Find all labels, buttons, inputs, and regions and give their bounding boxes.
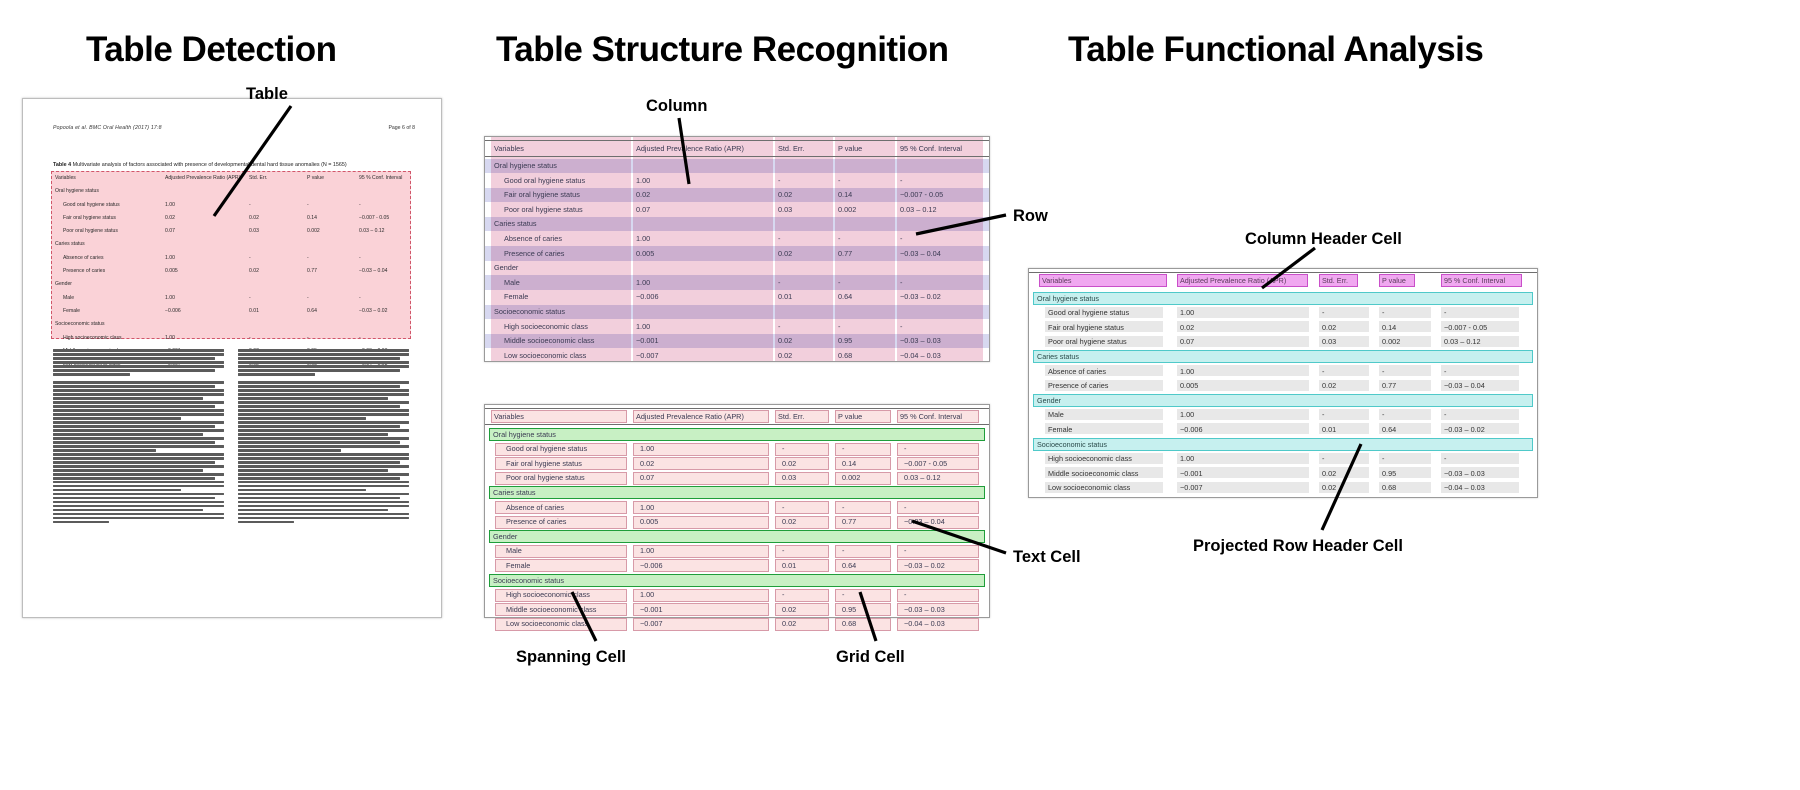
table-cell-text: 0.03	[782, 473, 796, 482]
text-cell	[1177, 409, 1309, 420]
table-cell-text: −0.001	[636, 336, 659, 345]
document-body-text-line	[53, 441, 215, 444]
table-cell-text: -	[838, 322, 840, 331]
document-body-text-line	[238, 365, 409, 368]
table-cell-text: -	[842, 444, 844, 453]
table-cell-text: −0.03 – 0.04	[900, 249, 941, 258]
document-body-text-line	[238, 517, 409, 520]
table-structure-rows-columns-view: VariablesAdjusted Prevalence Ratio (APR)…	[484, 136, 990, 362]
document-body-text-line	[238, 473, 409, 476]
text-cell	[1177, 365, 1309, 376]
document-body-text-line	[238, 469, 388, 472]
document-table-cell: 0.07	[165, 228, 175, 234]
text-cell-text: Presence of caries	[1048, 381, 1108, 390]
document-body-text-line	[238, 349, 409, 352]
document-running-head: Popoola et al. BMC Oral Health (2017) 17…	[53, 125, 162, 131]
annotation-label-row: Row	[1013, 207, 1048, 226]
document-table-cell: -	[249, 255, 251, 261]
document-table-cell: 0.02	[249, 268, 259, 274]
table-cell-text: −0.03 – 0.03	[900, 336, 941, 345]
document-table-cell: −0.006	[165, 308, 181, 314]
text-cell-text: Poor oral hygiene status	[1048, 337, 1127, 346]
text-cell-text: -	[1382, 308, 1384, 317]
document-body-text-line	[53, 461, 215, 464]
document-body-text-line	[238, 521, 294, 524]
text-cell	[1441, 365, 1519, 376]
text-cell	[1319, 409, 1369, 420]
document-table-cell: 0.005	[165, 268, 178, 274]
table-functional-analysis-view: VariablesAdjusted Prevalence Ratio (APR)…	[1028, 268, 1538, 498]
document-body-text-line	[238, 353, 409, 356]
table-spanning-cell	[489, 486, 985, 499]
document-page-number: Page 6 of 8	[388, 125, 415, 131]
table-cell-text: −0.007	[636, 351, 659, 360]
document-body-text-line	[238, 493, 409, 496]
table-cell-text: -	[900, 176, 902, 185]
document-body-text-line	[238, 505, 409, 508]
table-cell-text: 0.68	[842, 619, 856, 628]
document-body-text-line	[53, 409, 224, 412]
document-body-text-line	[238, 449, 341, 452]
table-cell-text: Socioeconomic status	[494, 307, 565, 316]
document-body-text-line	[238, 401, 409, 404]
document-table-cell: 0.02	[165, 215, 175, 221]
document-table-cell: 0.14	[307, 215, 317, 221]
annotation-label-column-header-cell: Column Header Cell	[1245, 230, 1402, 249]
table-cell-text: -	[782, 444, 784, 453]
table-spanning-cell-text: Gender	[493, 532, 517, 541]
table-grid-cell	[897, 589, 979, 602]
document-body-text-line	[238, 357, 400, 360]
table-cell-text: −0.04 – 0.03	[900, 351, 941, 360]
table-cell-text: 0.002	[842, 473, 860, 482]
text-cell-text: -	[1322, 410, 1324, 419]
table-cell-text: High socioeconomic class	[506, 590, 590, 599]
table-cell-text: −0.03 – 0.04	[904, 517, 945, 526]
document-body-text-line	[238, 405, 400, 408]
document-table-cell: −0.03 – 0.02	[359, 308, 387, 314]
text-cell-text: 1.00	[1180, 367, 1194, 376]
document-body-text-line	[53, 469, 203, 472]
document-table-spanning-row: Oral hygiene status	[53, 186, 407, 199]
text-cell-text: -	[1382, 454, 1384, 463]
table-cell-text: 0.02	[778, 249, 792, 258]
document-table-cell: 1.00	[165, 295, 175, 301]
panel-title-table-structure-recognition: Table Structure Recognition	[496, 30, 949, 70]
document-body-text-line	[238, 477, 400, 480]
table-cell-text: 0.02	[778, 336, 792, 345]
table-cell-text: Poor oral hygiene status	[506, 473, 585, 482]
text-cell	[1379, 307, 1431, 318]
scanned-document-page: Popoola et al. BMC Oral Health (2017) 17…	[22, 98, 442, 618]
document-table-cell: 0.03	[249, 228, 259, 234]
table-cell-text: 0.03 – 0.12	[904, 473, 941, 482]
table-column-header-text: Std. Err.	[778, 412, 804, 421]
document-body-text-line	[238, 417, 366, 420]
document-body-text-line	[238, 361, 409, 364]
text-cell-text: 0.002	[1382, 337, 1400, 346]
table-grid-cell	[897, 501, 979, 514]
document-body-text-line	[238, 393, 409, 396]
table-cell-text: 0.02	[778, 190, 792, 199]
projected-row-header-cell-text: Socioeconomic status	[1037, 440, 1107, 449]
document-table-cell: Presence of caries	[63, 268, 105, 274]
projected-row-header-cell	[1033, 292, 1533, 305]
annotation-label-spanning-cell: Spanning Cell	[516, 648, 626, 667]
column-header-cell-text: Variables	[1042, 276, 1071, 285]
table-column-header-text: 95 % Conf. Interval	[900, 412, 962, 421]
projected-row-header-cell	[1033, 394, 1533, 407]
document-body-text-line	[53, 401, 224, 404]
document-body-text-line	[238, 509, 388, 512]
table-cell-text: 0.03	[778, 205, 792, 214]
text-cell	[1441, 453, 1519, 464]
text-cell-text: -	[1444, 410, 1446, 419]
column-header-cell-text: Adjusted Prevalence Ratio (APR)	[1180, 276, 1286, 285]
document-table-cell: 0.002	[307, 228, 320, 234]
document-table-cell: Gender	[55, 281, 72, 287]
table-cell-text: Middle socioeconomic class	[504, 336, 594, 345]
document-table-cell: -	[359, 255, 361, 261]
text-cell-text: −0.04 – 0.03	[1444, 483, 1485, 492]
text-cell-text: 1.00	[1180, 410, 1194, 419]
table-cell-text: -	[842, 503, 844, 512]
document-table-spanning-row: Socioeconomic status	[53, 319, 407, 332]
document-body-text-line	[53, 501, 224, 504]
table-column-header-text: Std. Err.	[778, 144, 804, 153]
document-body-text-line	[238, 453, 409, 456]
table-cell-text: 0.02	[636, 190, 650, 199]
table-cell-text: High socioeconomic class	[504, 322, 588, 331]
table-cell-text: Absence of caries	[504, 234, 562, 243]
text-cell-text: 0.02	[1180, 323, 1194, 332]
text-cell-text: 0.01	[1322, 425, 1336, 434]
text-cell-text: Good oral hygiene status	[1048, 308, 1129, 317]
table-spanning-cell	[489, 428, 985, 441]
table-cell-text: -	[904, 503, 906, 512]
table-spanning-cell-text: Caries status	[493, 488, 536, 497]
document-body-text-line	[238, 413, 409, 416]
document-body-text-line	[53, 489, 181, 492]
document-table-cell: 0.02	[249, 215, 259, 221]
document-table: VariablesAdjusted Prevalence Ratio (APR)…	[53, 173, 407, 372]
column-header-cell-text: P value	[1382, 276, 1406, 285]
table-cell-text: 0.02	[778, 351, 792, 360]
table-cell-text: 0.02	[782, 605, 796, 614]
document-body-text-line	[238, 433, 388, 436]
text-cell-text: Absence of caries	[1048, 367, 1106, 376]
document-table-row: Absence of caries1.00---	[53, 253, 407, 266]
document-table-cell: −0.007 - 0.05	[359, 215, 389, 221]
document-table-cell: Female	[63, 308, 80, 314]
table-cell-text: Oral hygiene status	[494, 161, 557, 170]
table-column-header-text: Adjusted Prevalence Ratio (APR)	[636, 144, 744, 153]
table-cell-text: −0.001	[640, 605, 663, 614]
table-cell-text: 0.07	[640, 473, 654, 482]
table-column-header-text: Variables	[494, 412, 524, 421]
table-cell-text: −0.03 – 0.02	[900, 292, 941, 301]
document-body-text-line	[53, 493, 224, 496]
table-top-rule	[1029, 272, 1537, 273]
document-body-text-line	[53, 445, 224, 448]
table-cell-text: 0.07	[636, 205, 650, 214]
annotation-label-grid-cell: Grid Cell	[836, 648, 905, 667]
table-cell-text: -	[842, 590, 844, 599]
document-body-text-line	[238, 485, 409, 488]
table-cell-text: -	[778, 322, 780, 331]
table-cell-text: 0.03 – 0.12	[900, 205, 937, 214]
text-cell-text: -	[1382, 410, 1384, 419]
table-cell-text: 0.77	[838, 249, 852, 258]
table-cell-text: 1.00	[636, 234, 650, 243]
text-cell-text: 0.005	[1180, 381, 1198, 390]
document-body-text-line	[53, 429, 224, 432]
document-body-text-line	[53, 457, 224, 460]
text-cell-text: High socioeconomic class	[1048, 454, 1132, 463]
document-table-cell: 0.77	[307, 268, 317, 274]
document-table-spanning-row: Gender	[53, 279, 407, 292]
table-cell-text: 0.01	[778, 292, 792, 301]
table-cell-text: 0.02	[782, 619, 796, 628]
text-cell-text: −0.006	[1180, 425, 1203, 434]
document-body-text-line	[53, 353, 224, 356]
document-table-cell: Fair oral hygiene status	[63, 215, 116, 221]
document-body-text-line	[53, 473, 224, 476]
table-cell-text: −0.007 - 0.05	[904, 459, 947, 468]
document-body-text-line	[238, 437, 409, 440]
text-cell-text: -	[1322, 308, 1324, 317]
text-cell-text: Female	[1048, 425, 1072, 434]
document-table-cell: -	[359, 295, 361, 301]
table-cell-text: 1.00	[636, 278, 650, 287]
document-body-text-line	[53, 481, 224, 484]
table-cell-text: Female	[504, 292, 528, 301]
document-table-row: Presence of caries0.0050.020.77−0.03 – 0…	[53, 266, 407, 279]
text-cell-text: Low socioeconomic class	[1048, 483, 1130, 492]
table-cell-text: Presence of caries	[506, 517, 566, 526]
document-table-header-cell: P value	[307, 175, 324, 181]
document-body-text-line	[53, 505, 224, 508]
document-body-text-line	[53, 417, 181, 420]
document-body-text-line	[238, 397, 388, 400]
document-body-text-line	[238, 425, 400, 428]
panel-title-table-detection: Table Detection	[86, 30, 337, 70]
table-cell-text: Presence of caries	[504, 249, 564, 258]
table-cell-text: 1.00	[636, 322, 650, 331]
table-cell-text: -	[778, 278, 780, 287]
document-body-columns	[53, 349, 409, 601]
table-cell-text: 1.00	[636, 176, 650, 185]
table-column-header-text: Variables	[494, 144, 524, 153]
table-cell-text: 0.02	[640, 459, 654, 468]
table-cell-text: 0.005	[640, 517, 658, 526]
document-table-cell: High socioeconomic class	[63, 335, 122, 341]
table-header-rule	[485, 424, 989, 425]
table-grid-cell	[897, 545, 979, 558]
annotation-label-text-cell: Text Cell	[1013, 548, 1081, 567]
column-header-cell-text: Std. Err.	[1322, 276, 1348, 285]
document-body-text-line	[53, 421, 224, 424]
document-body-text-line	[238, 461, 400, 464]
text-cell	[1319, 453, 1369, 464]
document-table-header-cell: 95 % Conf. Interval	[359, 175, 402, 181]
document-table-cell: -	[249, 335, 251, 341]
document-body-text-line	[53, 485, 224, 488]
table-cell-text: 0.64	[838, 292, 852, 301]
document-body-text-line	[238, 481, 409, 484]
document-body-text-line	[53, 449, 156, 452]
projected-row-header-cell-text: Caries status	[1037, 352, 1079, 361]
document-table-row: Good oral hygiene status1.00---	[53, 200, 407, 213]
document-body-text-line	[53, 433, 203, 436]
document-table-spanning-row: Caries status	[53, 239, 407, 252]
document-body-text-line	[53, 377, 224, 380]
table-cell-text: 0.005	[636, 249, 654, 258]
table-cell-text: −0.006	[640, 561, 663, 570]
table-cell-text: Low socioeconomic class	[504, 351, 586, 360]
document-body-text-line	[53, 389, 224, 392]
text-cell-text: 0.02	[1322, 381, 1336, 390]
text-cell	[1177, 453, 1309, 464]
table-cell-text: -	[778, 176, 780, 185]
text-cell	[1379, 409, 1431, 420]
table-cell-text: Female	[506, 561, 530, 570]
document-table-header-row: VariablesAdjusted Prevalence Ratio (APR)…	[53, 173, 407, 186]
document-table-cell: Good oral hygiene status	[63, 202, 120, 208]
table-cell-text: -	[900, 322, 902, 331]
table-cell-text: 0.77	[842, 517, 856, 526]
table-cell-text: Caries status	[494, 219, 537, 228]
document-body-text-line	[53, 453, 224, 456]
text-cell	[1441, 307, 1519, 318]
text-cell-text: 0.64	[1382, 425, 1396, 434]
document-body-text-line	[53, 397, 203, 400]
document-body-text-line	[238, 513, 409, 516]
document-body-text-line	[53, 393, 224, 396]
document-body-text-line	[53, 425, 215, 428]
text-cell-text: −0.007 - 0.05	[1444, 323, 1487, 332]
table-cell-text: −0.03 – 0.03	[904, 605, 945, 614]
table-cell-text: -	[782, 590, 784, 599]
document-table-cell: -	[307, 202, 309, 208]
text-cell-text: -	[1444, 454, 1446, 463]
document-table-cell: 0.64	[307, 308, 317, 314]
table-spanning-cell-text: Socioeconomic status	[493, 576, 564, 585]
document-body-text-line	[53, 413, 224, 416]
table-column-header-text: 95 % Conf. Interval	[900, 144, 962, 153]
text-cell-text: Fair oral hygiene status	[1048, 323, 1124, 332]
document-table-cell: -	[307, 295, 309, 301]
table-cell-text: 0.14	[838, 190, 852, 199]
document-body-text-line	[238, 369, 400, 372]
document-body-text-line	[53, 477, 215, 480]
table-cell-text: -	[900, 234, 902, 243]
text-cell-text: 0.02	[1322, 483, 1336, 492]
document-table-cell: Caries status	[55, 241, 85, 247]
text-cell-text: 0.77	[1382, 381, 1396, 390]
document-table-cell: Poor oral hygiene status	[63, 228, 118, 234]
document-table-cell: -	[249, 202, 251, 208]
text-cell-text: 1.00	[1180, 454, 1194, 463]
table-cell-text: -	[838, 278, 840, 287]
annotation-label-projected-row-header-cell: Projected Row Header Cell	[1193, 537, 1403, 556]
table-cell-text: −0.03 – 0.02	[904, 561, 945, 570]
document-table-row: High socioeconomic class1.00---	[53, 333, 407, 346]
document-body-text-line	[238, 381, 409, 384]
text-cell-text: Male	[1048, 410, 1064, 419]
table-cell-text: -	[842, 546, 844, 555]
table-caption-number: Table 4	[53, 162, 71, 168]
table-cell-text: −0.04 – 0.03	[904, 619, 945, 628]
document-body-text-line	[238, 501, 409, 504]
table-spanning-cell-text: Oral hygiene status	[493, 430, 556, 439]
table-cell-text: Fair oral hygiene status	[504, 190, 580, 199]
table-cell-text: 0.02	[782, 517, 796, 526]
document-body-text-line	[238, 441, 400, 444]
table-cell-text: 0.01	[782, 561, 796, 570]
document-body-text-line	[238, 497, 400, 500]
document-table-cell: −0.03 – 0.04	[359, 268, 387, 274]
text-cell	[1177, 336, 1309, 347]
text-cell-text: −0.007	[1180, 483, 1203, 492]
document-body-text-line	[238, 421, 409, 424]
text-cell-text: -	[1444, 367, 1446, 376]
table-cell-text: 0.95	[842, 605, 856, 614]
text-cell-text: 0.02	[1322, 469, 1336, 478]
table-cell-text: 1.00	[640, 503, 654, 512]
table-cell-text: 0.64	[842, 561, 856, 570]
text-cell	[1177, 307, 1309, 318]
text-cell-text: −0.03 – 0.02	[1444, 425, 1485, 434]
text-cell	[1319, 307, 1369, 318]
document-table-cell: -	[307, 255, 309, 261]
table-top-rule	[485, 140, 989, 141]
table-cell-text: -	[904, 590, 906, 599]
text-cell	[1379, 453, 1431, 464]
document-body-text-line	[238, 465, 409, 468]
table-cell-text: -	[782, 546, 784, 555]
table-cell-text: -	[838, 234, 840, 243]
document-body-text-line	[238, 429, 409, 432]
text-cell-text: 0.07	[1180, 337, 1194, 346]
table-cell-text: Low socioeconomic class	[506, 619, 588, 628]
text-cell-text: -	[1382, 367, 1384, 376]
projected-row-header-cell-text: Gender	[1037, 396, 1061, 405]
document-body-column-left	[53, 349, 224, 601]
annotation-label-column: Column	[646, 97, 707, 116]
document-table-header-cell: Adjusted Prevalence Ratio (APR)	[165, 175, 240, 181]
table-cell-text: Middle socioeconomic class	[506, 605, 596, 614]
document-table-cell: Socioeconomic status	[55, 321, 105, 327]
document-table-cell: Oral hygiene status	[55, 188, 99, 194]
table-cell-text: 0.002	[838, 205, 856, 214]
document-table-cell: 1.00	[165, 202, 175, 208]
document-body-text-line	[53, 385, 215, 388]
projected-row-header-cell	[1033, 438, 1533, 451]
document-body-text-line	[53, 349, 224, 352]
document-table-cell: Male	[63, 295, 74, 301]
table-column-header-text: P value	[838, 144, 862, 153]
table-cell-text: -	[904, 444, 906, 453]
document-body-text-line	[53, 369, 215, 372]
text-cell-text: -	[1322, 367, 1324, 376]
document-table-cell: -	[307, 335, 309, 341]
table-cell-text: 1.00	[640, 590, 654, 599]
table-cell-text: -	[904, 546, 906, 555]
document-table-cell: 0.03 – 0.12	[359, 228, 385, 234]
document-table-header-cell: Std. Err.	[249, 175, 267, 181]
document-body-text-line	[238, 489, 366, 492]
